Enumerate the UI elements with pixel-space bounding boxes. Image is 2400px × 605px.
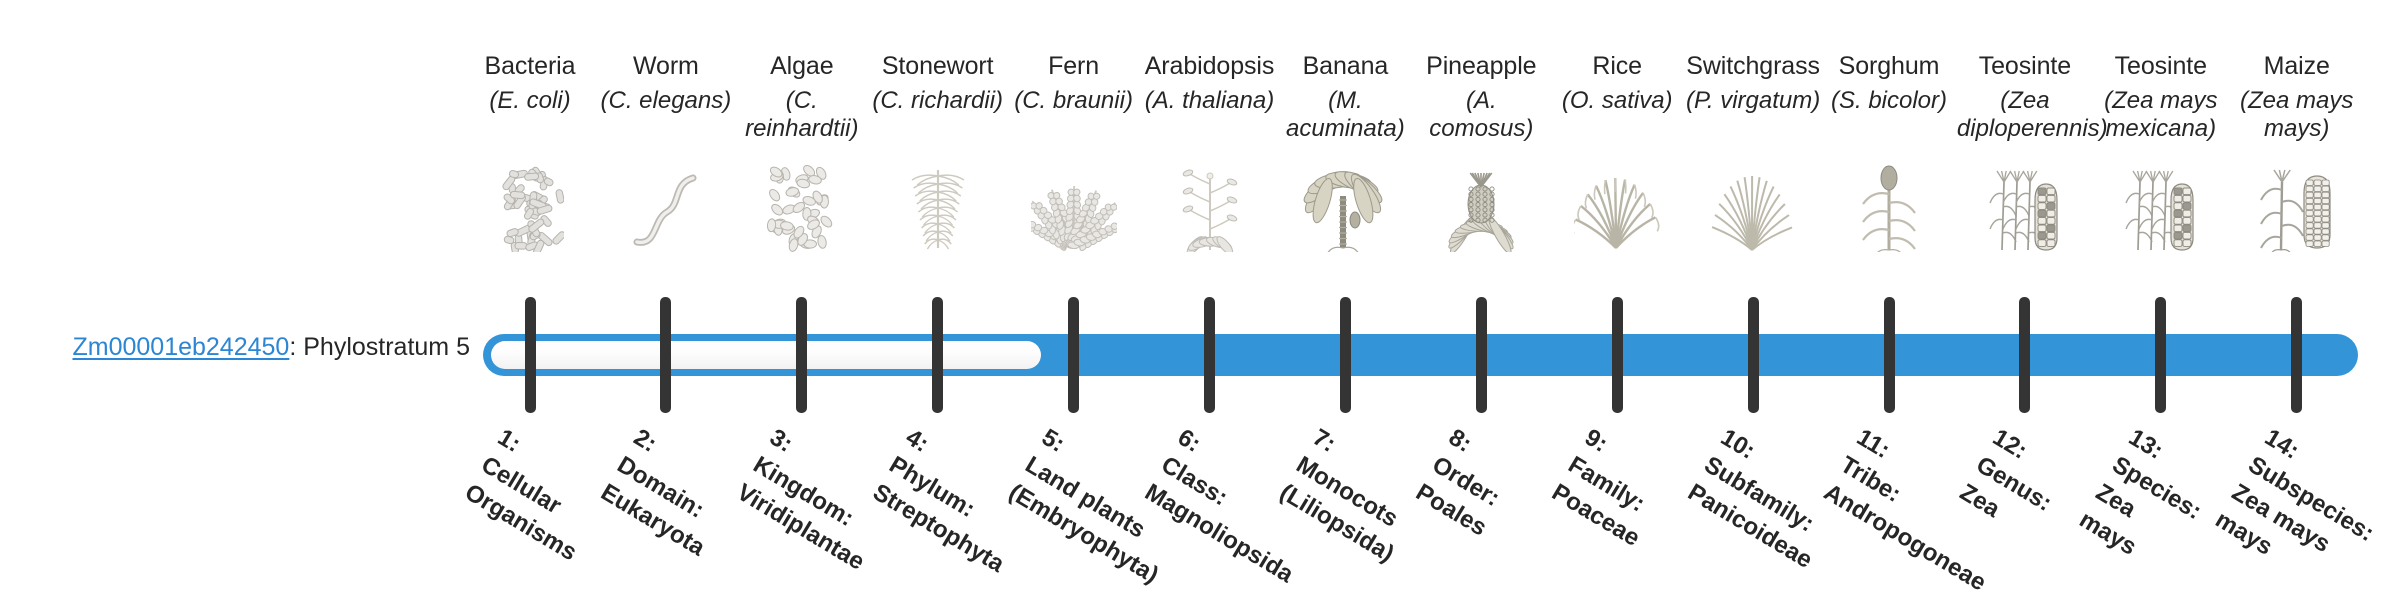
tick-mark — [1340, 297, 1351, 413]
phylostratum-unfilled-track — [491, 341, 1041, 369]
rank-label-text: 1:CellularOrganisms — [459, 422, 616, 569]
teosinte-plant-and-ear-icon — [1957, 160, 2093, 252]
species-common-name: Maize — [2229, 52, 2365, 81]
tick-mark — [2291, 297, 2302, 413]
tick-mark — [2155, 297, 2166, 413]
species-scientific-name: (Zea mays mexicana) — [2093, 87, 2229, 143]
species-common-name: Fern — [1006, 52, 1142, 81]
species-common-name: Arabidopsis — [1142, 52, 1278, 81]
tick-mark — [932, 297, 943, 413]
gene-phylostratum-label: Zm00001eb242450: Phylostratum 5 — [40, 332, 470, 362]
species-common-name: Rice — [1549, 52, 1685, 81]
tick-mark — [660, 297, 671, 413]
species-column: Rice(O. sativa) — [1549, 52, 1685, 115]
bacteria-rods-icon — [462, 160, 598, 252]
tick-mark — [1612, 297, 1623, 413]
rank-label-text: 8:Order:Poales — [1410, 422, 1526, 544]
sorghum-plant-icon — [1821, 160, 1957, 252]
species-column: Worm(C. elegans) — [598, 52, 734, 115]
rank-label-text: 2:Domain:Eukaryota — [594, 422, 743, 564]
species-common-name: Bacteria — [462, 52, 598, 81]
species-scientific-name: (C. richardii) — [870, 87, 1006, 115]
tick-mark — [796, 297, 807, 413]
gene-id-link[interactable]: Zm00001eb242450 — [72, 333, 289, 361]
fern-frond-icon — [1006, 160, 1142, 252]
species-common-name: Stonewort — [870, 52, 1006, 81]
banana-tree-icon — [1277, 160, 1413, 252]
maize-plant-and-cob-icon — [2229, 160, 2365, 252]
species-column: Teosinte(Zea mays mexicana) — [2093, 52, 2229, 143]
teosinte-plant-and-ear-icon — [2093, 160, 2229, 252]
species-scientific-name: (P. virgatum) — [1685, 87, 1821, 115]
species-common-name: Pineapple — [1413, 52, 1549, 81]
tick-mark — [1748, 297, 1759, 413]
algae-cells-icon — [734, 160, 870, 252]
species-common-name: Banana — [1277, 52, 1413, 81]
species-column: Pineapple(A. comosus) — [1413, 52, 1549, 143]
species-column: Fern(C. braunii) — [1006, 52, 1142, 115]
tick-mark — [525, 297, 536, 413]
phylostratum-timeline: Zm00001eb242450: Phylostratum 5 Bacteria… — [0, 0, 2400, 580]
species-scientific-name: (A. thaliana) — [1142, 87, 1278, 115]
species-column: Maize(Zea mays mays) — [2229, 52, 2365, 143]
species-scientific-name: (O. sativa) — [1549, 87, 1685, 115]
species-scientific-name: (A. comosus) — [1413, 87, 1549, 143]
species-column: Sorghum(S. bicolor) — [1821, 52, 1957, 115]
species-scientific-name: (Zea mays mays) — [2229, 87, 2365, 143]
species-column: Teosinte(Zea diploperennis) — [1957, 52, 2093, 143]
species-common-name: Sorghum — [1821, 52, 1957, 81]
species-column: Stonewort(C. richardii) — [870, 52, 1006, 115]
species-scientific-name: (Zea diploperennis) — [1957, 87, 2093, 143]
arabidopsis-rosette-icon — [1142, 160, 1278, 252]
phylostratum-value-text: Phylostratum 5 — [303, 333, 470, 361]
rank-label-text: 13:Species:Zeamays — [2073, 422, 2224, 583]
gene-label-separator: : — [289, 333, 303, 361]
species-common-name: Worm — [598, 52, 734, 81]
species-column: Arabidopsis(A. thaliana) — [1142, 52, 1278, 115]
species-scientific-name: (E. coli) — [462, 87, 598, 115]
phylostratum-progress-bar[interactable] — [483, 334, 2358, 376]
species-common-name: Teosinte — [2093, 52, 2229, 81]
species-scientific-name: (C. reinhardtii) — [734, 87, 870, 143]
rank-label-text: 9:Family:Poaceae — [1546, 422, 1679, 554]
species-column: Switchgrass(P. virgatum) — [1685, 52, 1821, 115]
species-column: Algae(C. reinhardtii) — [734, 52, 870, 143]
species-scientific-name: (C. braunii) — [1006, 87, 1142, 115]
species-common-name: Teosinte — [1957, 52, 2093, 81]
tick-mark — [2019, 297, 2030, 413]
stonewort-plant-icon — [870, 160, 1006, 252]
species-column: Banana(M. acuminata) — [1277, 52, 1413, 143]
species-column: Bacteria(E. coli) — [462, 52, 598, 115]
rice-grass-icon — [1549, 160, 1685, 252]
species-scientific-name: (S. bicolor) — [1821, 87, 1957, 115]
switchgrass-clump-icon — [1685, 160, 1821, 252]
nematode-worm-icon — [598, 160, 734, 252]
species-scientific-name: (M. acuminata) — [1277, 87, 1413, 143]
tick-mark — [1884, 297, 1895, 413]
species-common-name: Algae — [734, 52, 870, 81]
tick-mark — [1476, 297, 1487, 413]
tick-mark — [1068, 297, 1079, 413]
species-common-name: Switchgrass — [1685, 52, 1821, 81]
species-scientific-name: (C. elegans) — [598, 87, 734, 115]
pineapple-plant-icon — [1413, 160, 1549, 252]
tick-mark — [1204, 297, 1215, 413]
rank-label-text: 14:Subspecies:Zea maysmays — [2209, 422, 2396, 605]
